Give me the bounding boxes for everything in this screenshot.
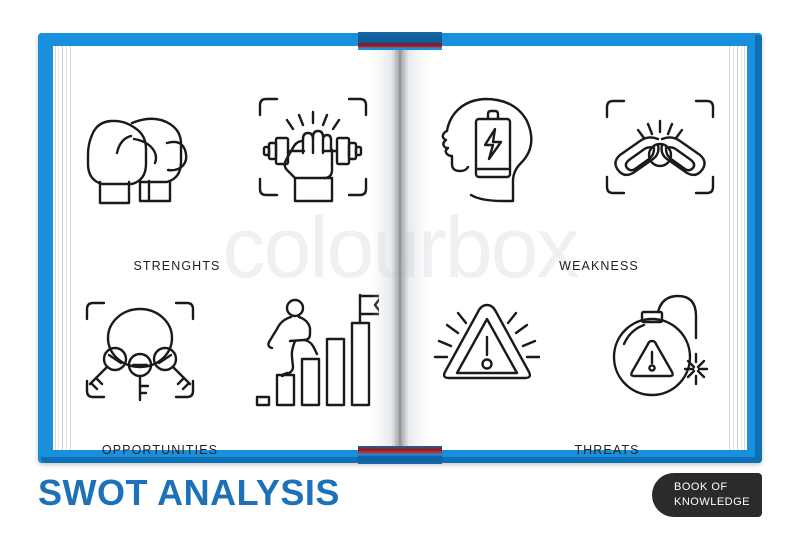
book-pages: colourbox <box>53 46 747 450</box>
label-threats: THREATS <box>607 443 672 457</box>
label-weakness-text: WEAKNESS <box>559 259 639 273</box>
badge-line-2: KNOWLEDGE <box>674 495 762 510</box>
badge-line-1: BOOK OF <box>674 480 762 495</box>
label-opportunities-text: OPPORTUNITIES <box>102 443 218 457</box>
label-opportunities: OPPORTUNITIES <box>160 443 276 457</box>
label-weakness: WEAKNESS <box>599 259 679 273</box>
head-battery-icon <box>421 85 553 209</box>
label-strengths-text: STRENGHTS <box>134 259 221 273</box>
boxing-gloves-icon <box>74 85 206 209</box>
fist-dumbbell-icon <box>247 85 379 209</box>
icon-cell-keys <box>53 248 227 450</box>
infographic-canvas: colourbox <box>0 0 800 534</box>
page-title: SWOT ANALYSIS <box>38 472 340 514</box>
book-spine-bottom <box>358 446 442 464</box>
broken-chain-icon <box>594 85 726 209</box>
book-gutter-shadow <box>372 46 428 450</box>
growth-climb-icon <box>247 287 379 411</box>
icon-cell-bomb <box>574 248 748 450</box>
icon-cell-broken-chain <box>574 46 748 248</box>
icon-cell-boxing-gloves <box>53 46 227 248</box>
keys-icon <box>74 287 206 411</box>
bomb-icon <box>594 287 726 411</box>
warning-triangle-icon <box>421 287 553 411</box>
status-badge: BOOK OF KNOWLEDGE <box>652 473 762 517</box>
label-strengths: STRENGHTS <box>177 259 264 273</box>
open-book-graphic: colourbox <box>38 33 762 463</box>
label-threats-text: THREATS <box>574 443 639 457</box>
book-cover-right-edge <box>755 35 762 463</box>
book-spine-top <box>358 32 442 50</box>
